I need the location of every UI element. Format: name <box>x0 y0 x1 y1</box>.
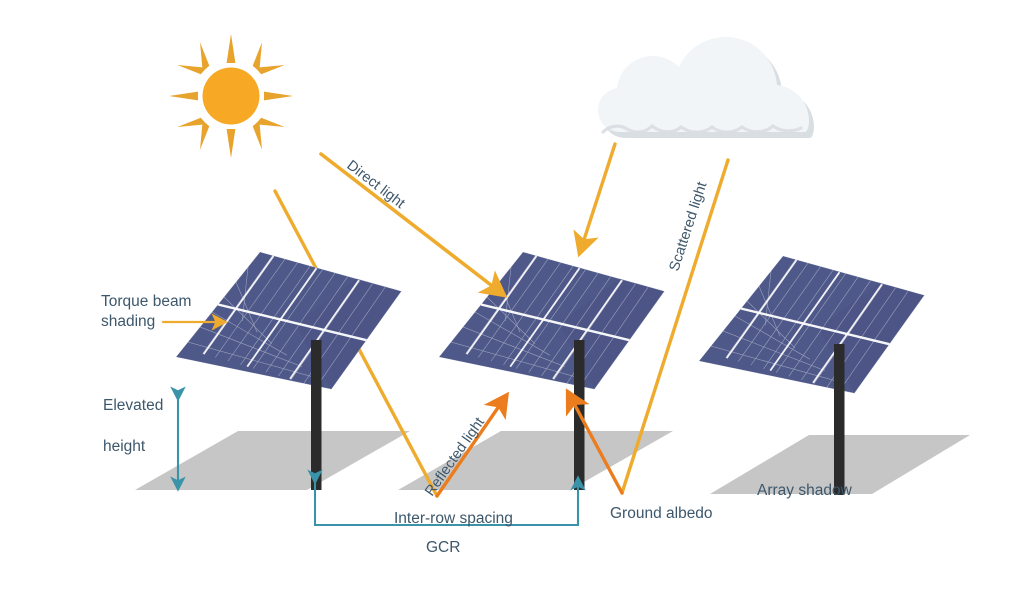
label-inter-row-spacing: Inter-row spacing <box>394 510 513 527</box>
label-ground-albedo: Ground albedo <box>610 505 713 522</box>
solar-array-diagram: Torque beam shading Elevated height Dire… <box>0 0 1024 598</box>
cloud-icon <box>598 37 814 138</box>
label-scattered-light: Scattered light <box>667 180 711 273</box>
ray-direct-light <box>321 154 500 292</box>
label-elevated-height-line1: Elevated <box>103 397 163 414</box>
torque-pole-right-front <box>834 344 845 495</box>
diagram-canvas: Torque beam shading Elevated height Dire… <box>0 0 1024 598</box>
label-array-shadow: Array shadow <box>757 482 853 499</box>
label-torque-beam-shading-line2: shading <box>101 313 155 330</box>
array-shadow-left <box>135 431 410 490</box>
label-torque-beam-shading-line1: Torque beam <box>101 293 191 310</box>
label-elevated-height-line2: height <box>103 438 146 455</box>
sun-icon <box>169 34 293 158</box>
torque-pole-left-front <box>311 340 322 490</box>
ray-cloud-to-panel <box>581 144 615 249</box>
label-gcr: GCR <box>426 539 460 556</box>
label-direct-light: Direct light <box>344 157 408 211</box>
